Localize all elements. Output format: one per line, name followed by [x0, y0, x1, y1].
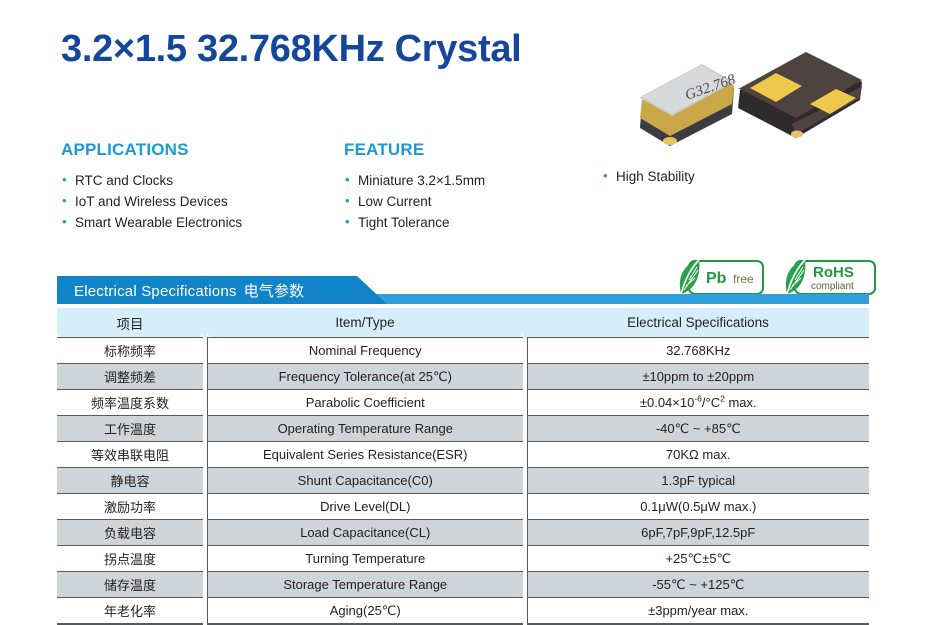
table-row: 等效串联电阻Equivalent Series Resistance(ESR)7… — [57, 442, 869, 468]
product-photo: G32.768 — [624, 48, 876, 152]
table-row: 工作温度Operating Temperature Range-40℃ ~ +8… — [57, 416, 869, 442]
crystal-package-illustration: G32.768 — [624, 48, 876, 152]
cell-value: -40℃ ~ +85℃ — [527, 416, 869, 442]
cell-item-en: Equivalent Series Resistance(ESR) — [207, 442, 523, 468]
list-item: Smart Wearable Electronics — [61, 212, 242, 233]
table-row: 负载电容Load Capacitance(CL)6pF,7pF,9pF,12.5… — [57, 520, 869, 546]
spec-banner-label: Electrical Specifications电气参数 — [74, 280, 304, 301]
cell-item-cn: 负载电容 — [57, 520, 203, 546]
spec-table: 项目 Item/Type Electrical Specifications 标… — [57, 308, 869, 625]
table-row: 调整频差Frequency Tolerance(at 25℃)±10ppm to… — [57, 364, 869, 390]
spec-banner-label-cn: 电气参数 — [244, 283, 305, 300]
extra-feature-section: High Stability — [602, 166, 695, 187]
list-item: Low Current — [344, 191, 485, 212]
cell-item-en: Parabolic Coefficient — [207, 390, 523, 416]
table-row: 拐点温度Turning Temperature+25℃±5℃ — [57, 546, 869, 572]
spec-table-head: 项目 Item/Type Electrical Specifications — [57, 308, 869, 338]
cell-value: 6pF,7pF,9pF,12.5pF — [527, 520, 869, 546]
cell-item-en: Aging(25℃) — [207, 598, 523, 625]
spec-banner-label-en: Electrical Specifications — [74, 283, 237, 300]
column-header-item-cn: 项目 — [57, 308, 203, 338]
applications-section: APPLICATIONS RTC and Clocks IoT and Wire… — [61, 140, 242, 233]
cell-item-en: Shunt Capacitance(C0) — [207, 468, 523, 494]
applications-list: RTC and Clocks IoT and Wireless Devices … — [61, 170, 242, 233]
page-title: 3.2×1.5 32.768KHz Crystal — [61, 28, 521, 71]
table-row: 标称频率Nominal Frequency32.768KHz — [57, 338, 869, 364]
feature-list: Miniature 3.2×1.5mm Low Current Tight To… — [344, 170, 485, 233]
cell-value: 32.768KHz — [527, 338, 869, 364]
cell-item-cn: 储存温度 — [57, 572, 203, 598]
cell-item-cn: 频率温度系数 — [57, 390, 203, 416]
table-row: 激励功率Drive Level(DL)0.1μW(0.5μW max.) — [57, 494, 869, 520]
table-row: 静电容Shunt Capacitance(C0)1.3pF typical — [57, 468, 869, 494]
cell-item-cn: 工作温度 — [57, 416, 203, 442]
cell-value: -55℃ ~ +125℃ — [527, 572, 869, 598]
cell-value: 1.3pF typical — [527, 468, 869, 494]
cell-item-en: Drive Level(DL) — [207, 494, 523, 520]
list-item: Tight Tolerance — [344, 212, 485, 233]
cell-item-cn: 调整频差 — [57, 364, 203, 390]
cell-value: 70KΩ max. — [527, 442, 869, 468]
cell-item-cn: 拐点温度 — [57, 546, 203, 572]
list-item: Miniature 3.2×1.5mm — [344, 170, 485, 191]
column-header-item-en: Item/Type — [207, 308, 523, 338]
cell-value: ±10ppm to ±20ppm — [527, 364, 869, 390]
table-row: 储存温度Storage Temperature Range-55℃ ~ +125… — [57, 572, 869, 598]
cell-value: 0.1μW(0.5μW max.) — [527, 494, 869, 520]
cell-item-cn: 年老化率 — [57, 598, 203, 625]
list-item: IoT and Wireless Devices — [61, 191, 242, 212]
cell-item-en: Storage Temperature Range — [207, 572, 523, 598]
crystal-left-package: G32.768 — [640, 64, 738, 146]
cell-item-cn: 等效串联电阻 — [57, 442, 203, 468]
cell-item-en: Nominal Frequency — [207, 338, 523, 364]
feature-heading: FEATURE — [344, 140, 485, 160]
list-item: High Stability — [602, 166, 695, 187]
applications-heading: APPLICATIONS — [61, 140, 242, 160]
extra-feature-list: High Stability — [602, 166, 695, 187]
cell-item-en: Load Capacitance(CL) — [207, 520, 523, 546]
list-item: RTC and Clocks — [61, 170, 242, 191]
table-header-row: 项目 Item/Type Electrical Specifications — [57, 308, 869, 338]
column-header-value: Electrical Specifications — [527, 308, 869, 338]
cell-value: ±3ppm/year max. — [527, 598, 869, 625]
cell-item-cn: 标称频率 — [57, 338, 203, 364]
spec-table-body: 标称频率Nominal Frequency32.768KHz调整频差Freque… — [57, 338, 869, 625]
table-row: 频率温度系数Parabolic Coefficient±0.04×10-6/°C… — [57, 390, 869, 416]
cell-item-cn: 激励功率 — [57, 494, 203, 520]
crystal-right-package — [738, 52, 862, 138]
cell-value: ±0.04×10-6/°C2 max. — [527, 390, 869, 416]
cell-item-en: Turning Temperature — [207, 546, 523, 572]
table-row: 年老化率Aging(25℃)±3ppm/year max. — [57, 598, 869, 625]
cell-item-en: Frequency Tolerance(at 25℃) — [207, 364, 523, 390]
cell-value: +25℃±5℃ — [527, 546, 869, 572]
cell-item-cn: 静电容 — [57, 468, 203, 494]
feature-section: FEATURE Miniature 3.2×1.5mm Low Current … — [344, 140, 485, 233]
cell-item-en: Operating Temperature Range — [207, 416, 523, 442]
spec-banner: Electrical Specifications电气参数 — [57, 276, 869, 304]
